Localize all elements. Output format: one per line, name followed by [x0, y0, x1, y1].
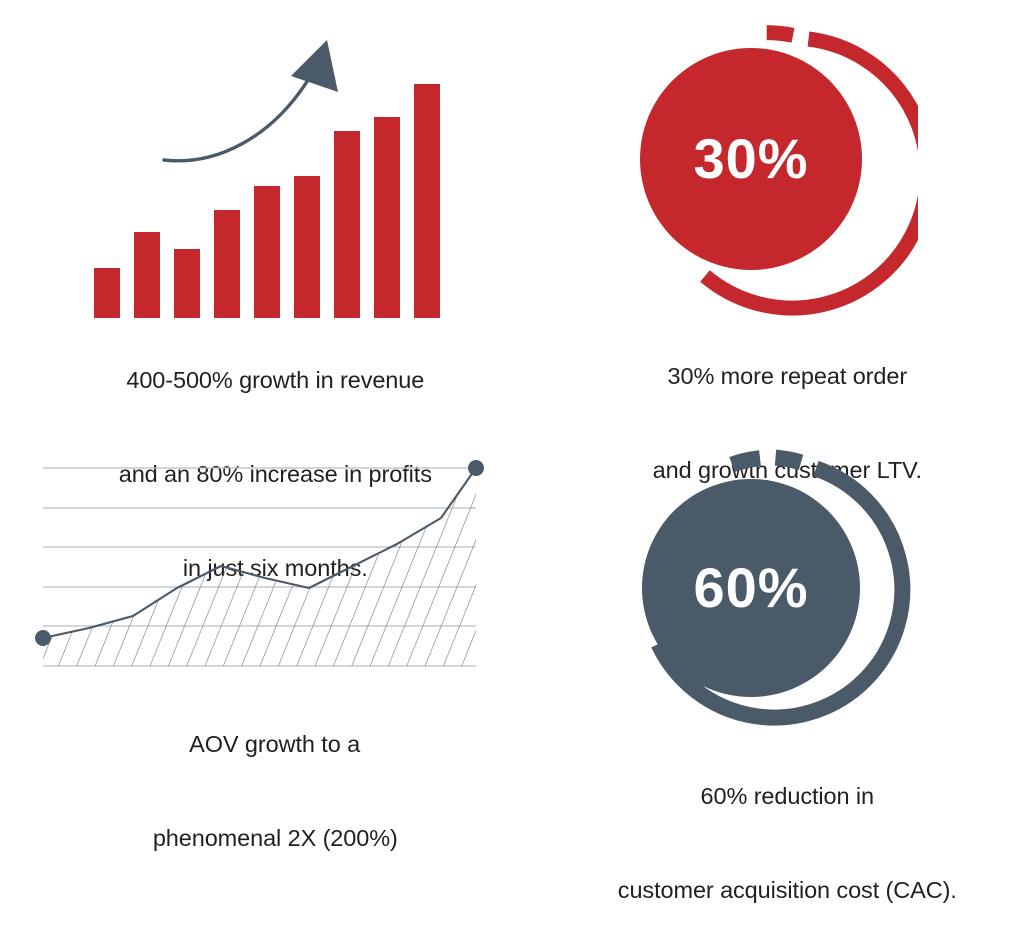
bar-item	[254, 186, 280, 318]
bar-item	[134, 232, 160, 318]
caption-line-2: customer acquisition cost (CAC).	[618, 877, 957, 903]
donut-chart-repeat-order: 30%	[618, 18, 918, 318]
donut-value-label: 60%	[693, 556, 808, 619]
bar-item	[214, 210, 240, 318]
caption-line-1: AOV growth to a	[189, 731, 360, 757]
donut-value-label: 30%	[693, 127, 808, 190]
line-marker-end	[468, 460, 484, 476]
bar-item	[334, 131, 360, 318]
bar-series	[94, 84, 440, 318]
line-marker-start	[35, 630, 51, 646]
caption-line-1: 60% reduction in	[701, 783, 874, 809]
growth-arrow-icon	[164, 40, 338, 161]
caption-line-1: 400-500% growth in revenue	[126, 367, 424, 393]
caption-line-1: 30% more repeat order	[668, 363, 908, 389]
panel-revenue-growth: 400-500% growth in revenue and an 80% in…	[0, 18, 512, 438]
bar-item	[94, 268, 120, 318]
panel-aov-growth: AOV growth to a phenomenal 2X (200%)	[0, 440, 512, 860]
bar-item	[374, 117, 400, 318]
panel-cac-reduction: 60% 60% reduction in customer acquisitio…	[512, 440, 1024, 860]
panel-aov-caption: AOV growth to a phenomenal 2X (200%)	[114, 698, 398, 886]
donut-chart-cac: 60%	[618, 440, 918, 740]
caption-line-2: phenomenal 2X (200%)	[153, 825, 398, 851]
infographic-root: 400-500% growth in revenue and an 80% in…	[0, 0, 1024, 890]
bar-item	[174, 249, 200, 318]
bar-chart	[46, 18, 466, 318]
bar-item	[294, 176, 320, 318]
hatched-area	[21, 440, 491, 680]
line-chart	[21, 440, 491, 680]
panel-cac-caption: 60% reduction in customer acquisition co…	[579, 750, 957, 938]
bar-item	[414, 84, 440, 318]
panel-repeat-order: 30% 30% more repeat order and growth cus…	[512, 18, 1024, 438]
